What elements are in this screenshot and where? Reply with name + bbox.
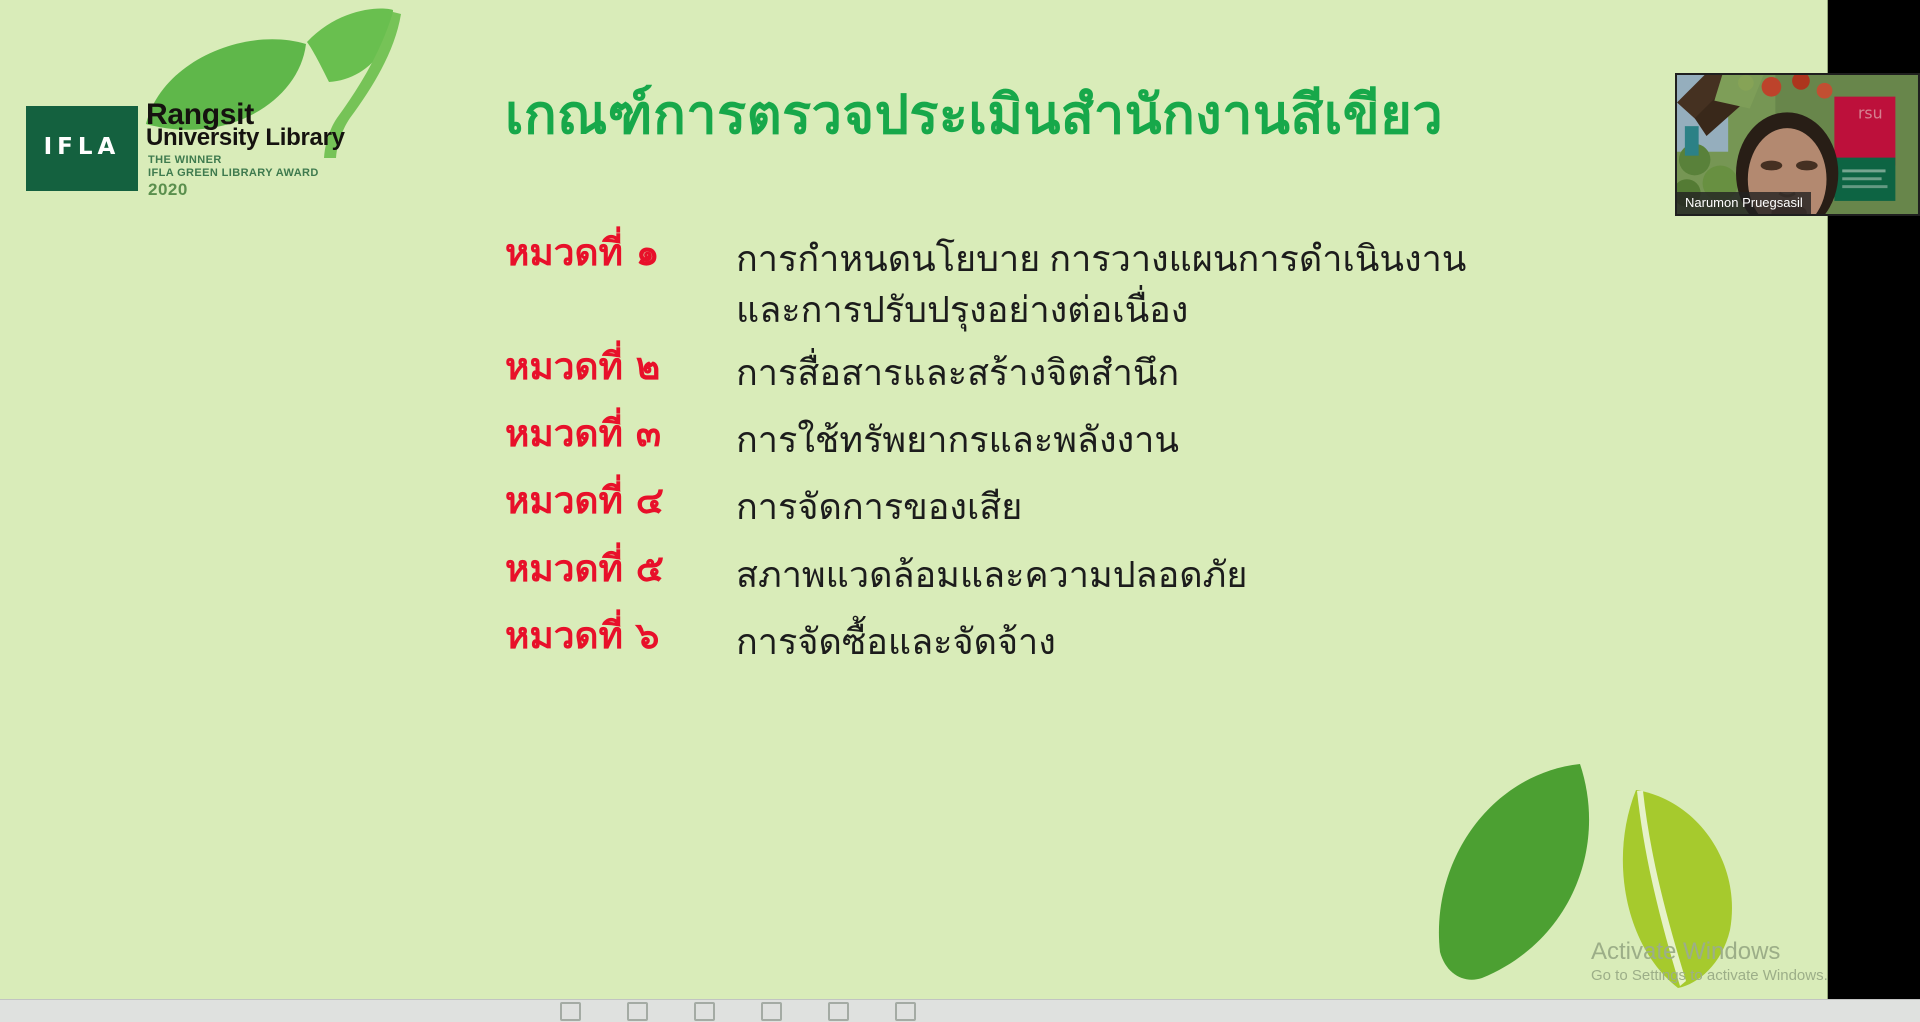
taskbar-icon-group bbox=[560, 1002, 916, 1021]
criteria-description-line: การจัดซื้อและจัดจ้าง bbox=[736, 617, 1685, 668]
taskbar-app-icon[interactable] bbox=[694, 1002, 715, 1021]
criteria-row: หมวดที่ ๕ สภาพแวดล้อมและความปลอดภัย bbox=[505, 548, 1685, 601]
criteria-category-label: หมวดที่ ๔ bbox=[505, 480, 720, 521]
criteria-description-line: และการปรับปรุงอย่างต่อเนื่อง bbox=[736, 285, 1685, 336]
criteria-description-line: การจัดการของเสีย bbox=[736, 482, 1685, 533]
criteria-category-label: หมวดที่ ๒ bbox=[505, 346, 720, 387]
criteria-row: หมวดที่ ๖ การจัดซื้อและจัดจ้าง bbox=[505, 615, 1685, 668]
participant-name-badge: Narumon Pruegsasil bbox=[1677, 192, 1811, 214]
presentation-slide: IFLA Rangsit University Library THE WINN… bbox=[0, 0, 1828, 1000]
slide-title: เกณฑ์การตรวจประเมินสำนักงานสีเขียว bbox=[505, 88, 1535, 142]
criteria-row: หมวดที่ ๒ การสื่อสารและสร้างจิตสำนึก bbox=[505, 346, 1685, 399]
taskbar-app-icon[interactable] bbox=[895, 1002, 916, 1021]
criteria-description-line: การใช้ทรัพยากรและพลังงาน bbox=[736, 415, 1685, 466]
criteria-row: หมวดที่ ๓ การใช้ทรัพยากรและพลังงาน bbox=[505, 413, 1685, 466]
criteria-description: การกำหนดนโยบาย การวางแผนการดำเนินงาน และ… bbox=[720, 232, 1685, 336]
criteria-row: หมวดที่ ๔ การจัดการของเสีย bbox=[505, 480, 1685, 533]
criteria-description: สภาพแวดล้อมและความปลอดภัย bbox=[720, 548, 1685, 601]
criteria-description: การจัดซื้อและจัดจ้าง bbox=[720, 615, 1685, 668]
taskbar-app-icon[interactable] bbox=[560, 1002, 581, 1021]
logo-award-year: 2020 bbox=[148, 180, 188, 200]
screen-share-surface: IFLA Rangsit University Library THE WINN… bbox=[0, 0, 1920, 1022]
criteria-category-label: หมวดที่ ๑ bbox=[505, 232, 720, 273]
taskbar-app-icon[interactable] bbox=[828, 1002, 849, 1021]
criteria-description-line: การกำหนดนโยบาย การวางแผนการดำเนินงาน bbox=[736, 234, 1685, 285]
logo-award-line2: IFLA GREEN LIBRARY AWARD bbox=[148, 167, 319, 179]
windows-taskbar[interactable] bbox=[0, 999, 1920, 1022]
leaf-dark-icon bbox=[1439, 764, 1589, 980]
criteria-description-line: สภาพแวดล้อมและความปลอดภัย bbox=[736, 550, 1685, 601]
criteria-category-label: หมวดที่ ๓ bbox=[505, 413, 720, 454]
taskbar-app-icon[interactable] bbox=[627, 1002, 648, 1021]
logo-brand-line2: University Library bbox=[146, 124, 345, 152]
criteria-row: หมวดที่ ๑ การกำหนดนโยบาย การวางแผนการดำเ… bbox=[505, 232, 1685, 336]
criteria-description: การจัดการของเสีย bbox=[720, 480, 1685, 533]
criteria-description: การใช้ทรัพยากรและพลังงาน bbox=[720, 413, 1685, 466]
leaf-decoration bbox=[1430, 752, 1760, 992]
criteria-description: การสื่อสารและสร้างจิตสำนึก bbox=[720, 346, 1685, 399]
logo-award-line1: THE WINNER bbox=[148, 154, 222, 166]
criteria-list: หมวดที่ ๑ การกำหนดนโยบาย การวางแผนการดำเ… bbox=[505, 232, 1685, 682]
criteria-category-label: หมวดที่ ๖ bbox=[505, 615, 720, 656]
rangsit-university-library-logo: IFLA Rangsit University Library THE WINN… bbox=[26, 6, 416, 191]
participant-video-tile[interactable]: rsu Narumon Pruegsasil bbox=[1675, 73, 1920, 216]
taskbar-app-icon[interactable] bbox=[761, 1002, 782, 1021]
ifla-letters: IFLA bbox=[26, 132, 138, 162]
criteria-category-label: หมวดที่ ๕ bbox=[505, 548, 720, 589]
criteria-description-line: การสื่อสารและสร้างจิตสำนึก bbox=[736, 348, 1685, 399]
